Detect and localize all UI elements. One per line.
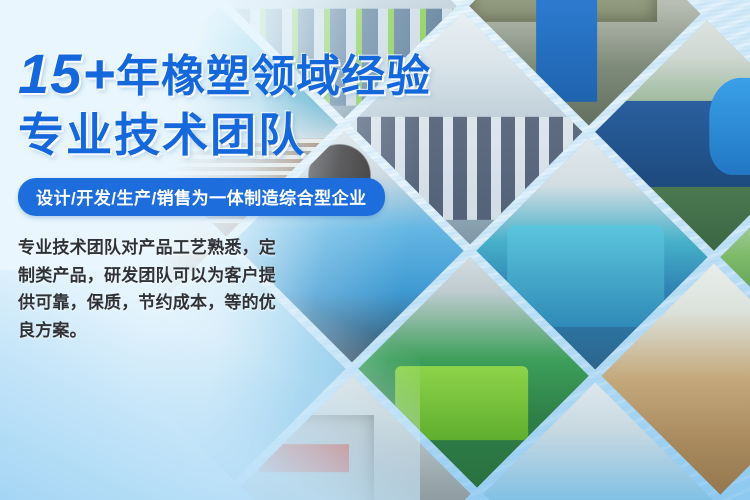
headline-line-1: 15+年橡塑领域经验 (18, 46, 488, 108)
headline-line-2-text: 专业技术团队 (18, 109, 306, 161)
headline-line-1-text: 年橡塑领域经验 (116, 52, 431, 101)
copy-block: 15+年橡塑领域经验 专业技术团队 设计/开发/生产/销售为一体制造综合型企业 … (18, 46, 488, 344)
tagline-pill: 设计/开发/生产/销售为一体制造综合型企业 (18, 178, 385, 216)
headline-number: 15+ (18, 42, 116, 105)
page-title: 15+年橡塑领域经验 专业技术团队 (18, 46, 488, 164)
body-paragraph: 专业技术团队对产品工艺熟悉，定制类产品，研发团队可以为客户提供可靠，保质，节约成… (18, 234, 292, 344)
promotional-banner: 15+年橡塑领域经验 专业技术团队 设计/开发/生产/销售为一体制造综合型企业 … (0, 0, 750, 500)
headline-line-2: 专业技术团队 (18, 112, 488, 164)
